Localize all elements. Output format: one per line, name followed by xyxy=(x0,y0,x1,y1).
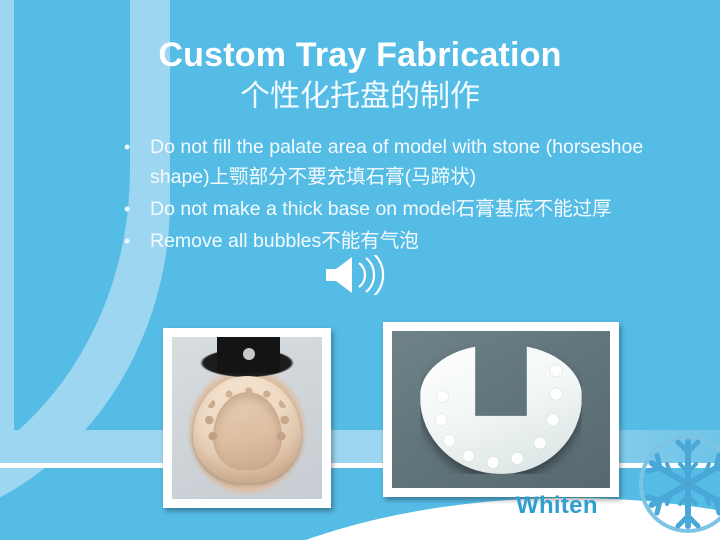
bullet-marker-icon: • xyxy=(118,194,150,224)
speaker-sound-icon[interactable] xyxy=(322,255,388,295)
bullet-list: • Do not fill the palate area of model w… xyxy=(118,132,688,258)
photo-right-inner xyxy=(392,331,610,488)
dental-impression-image xyxy=(172,337,322,499)
list-item: • Do not make a thick base on model石膏基底不… xyxy=(118,194,688,224)
bullet-text: Remove all bubbles不能有气泡 xyxy=(150,226,688,256)
list-item: • Do not fill the palate area of model w… xyxy=(118,132,688,192)
brand-name: Whiten xyxy=(516,492,598,520)
bullet-text: Do not make a thick base on model石膏基底不能过… xyxy=(150,194,688,224)
impression-tooth-indentations xyxy=(202,386,292,467)
presentation-slide: Custom Tray Fabrication 个性化托盘的制作 • Do no… xyxy=(0,0,720,540)
stone-cast-image xyxy=(392,331,610,488)
impression-clip-hole xyxy=(243,348,255,360)
photo-frame-stone-cast[interactable] xyxy=(383,322,619,497)
photo-frame-impression[interactable] xyxy=(163,328,331,508)
snowflake-icon xyxy=(630,428,720,540)
slide-subtitle: 个性化托盘的制作 xyxy=(60,79,660,115)
bullet-marker-icon: • xyxy=(118,226,150,256)
slide-title: Custom Tray Fabrication xyxy=(60,35,660,75)
photo-left-inner xyxy=(172,337,322,499)
bullet-text: Do not fill the palate area of model wit… xyxy=(150,132,688,192)
stone-cast-arch xyxy=(420,345,581,474)
list-item: • Remove all bubbles不能有气泡 xyxy=(118,226,688,256)
bullet-marker-icon: • xyxy=(118,132,150,162)
background-left-strip xyxy=(0,0,14,470)
